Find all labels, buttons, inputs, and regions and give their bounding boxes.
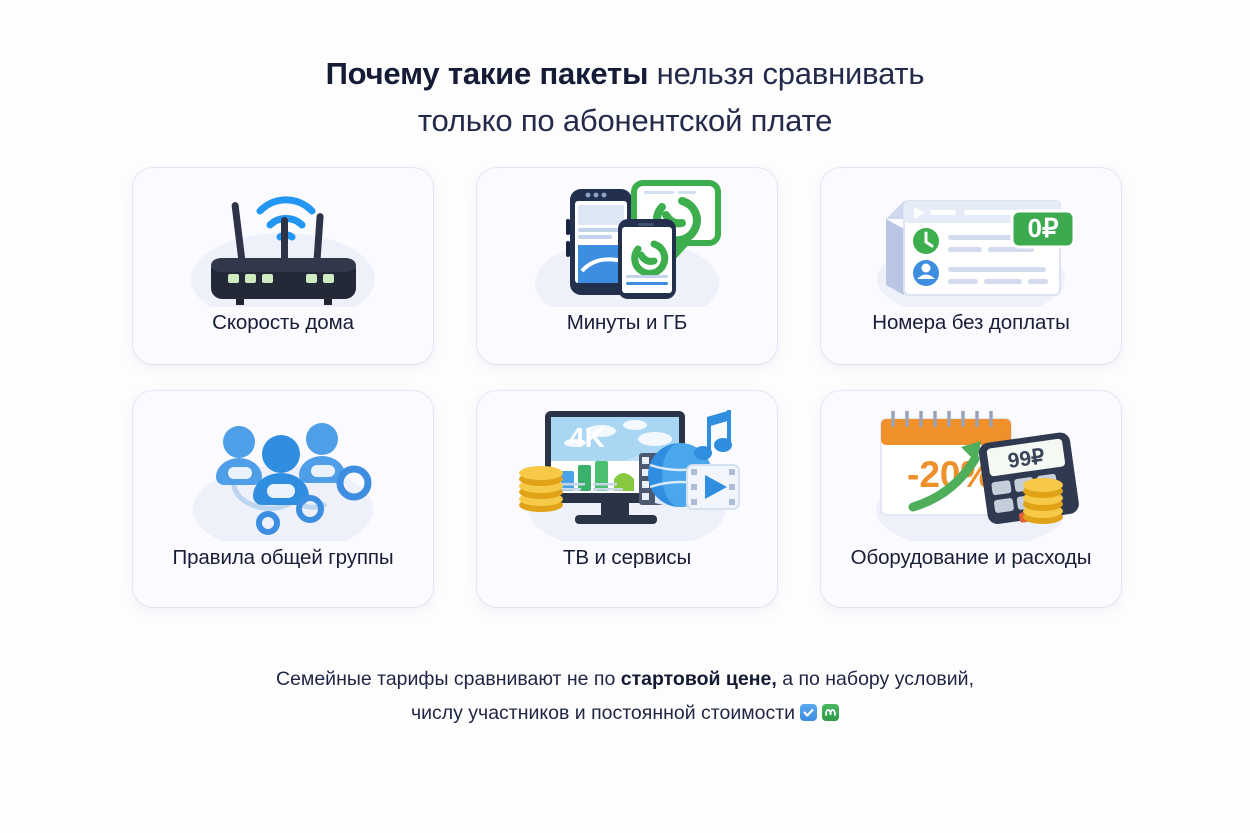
- card-label: Минуты и ГБ: [553, 310, 702, 336]
- card-minutes-gb[interactable]: Минуты и ГБ: [477, 168, 777, 364]
- footer-note: Семейные тарифы сравнивают не по стартов…: [0, 662, 1250, 730]
- tv-screen-4k-text: 4K: [569, 422, 605, 453]
- card-group-rules[interactable]: Правила общей группы: [133, 391, 433, 607]
- card-label: Оборудование и расходы: [837, 545, 1106, 571]
- card-speed-home[interactable]: Скорость дома: [133, 168, 433, 364]
- card-label: Правила общей группы: [158, 545, 407, 571]
- footer-text-highlight: стартовой цене,: [621, 668, 777, 690]
- card-label: Скорость дома: [198, 310, 368, 336]
- card-tv-services[interactable]: 4K: [477, 391, 777, 607]
- footer-text-c: а по набору условий,: [777, 668, 974, 690]
- footer-text-a: Семейные тарифы сравнивают не по: [276, 668, 621, 690]
- zero-price-badge-text: 0₽: [1027, 213, 1058, 243]
- footer-line-2: числу участников и постоянной стоимости: [0, 696, 1250, 730]
- page-title-line-1: Почему такие пакеты нельзя сравнивать: [0, 54, 1250, 94]
- wifi-router-icon: [133, 172, 433, 310]
- calendar-calculator-icon: -20% 99₽: [821, 395, 1121, 545]
- footer-line-1: Семейные тарифы сравнивают не по стартов…: [0, 662, 1250, 696]
- card-label: Номера без доплаты: [858, 310, 1083, 336]
- document-zero-price-icon: 0₽: [821, 172, 1121, 310]
- infographic-page: Почему такие пакеты нельзя сравнивать то…: [0, 0, 1250, 833]
- check-badge-blue-icon: [800, 704, 817, 721]
- card-numbers-no-fee[interactable]: 0₽ Номера без доплаты: [821, 168, 1121, 364]
- page-title: Почему такие пакеты нельзя сравнивать то…: [0, 0, 1250, 142]
- card-label: ТВ и сервисы: [549, 545, 705, 571]
- smartphones-call-icon: [477, 172, 777, 310]
- people-network-icon: [133, 395, 433, 545]
- card-equipment-costs[interactable]: -20% 99₽: [821, 391, 1121, 607]
- page-title-normal: нельзя сравнивать: [648, 56, 924, 91]
- page-title-line-2: только по абонентской плате: [0, 101, 1250, 141]
- page-title-strong: Почему такие пакеты: [326, 56, 649, 91]
- loop-badge-green-icon: [822, 704, 839, 721]
- footer-text-d: числу участников и постоянной стоимости: [411, 702, 795, 724]
- feature-card-grid: Скорость дома: [133, 168, 1121, 607]
- tv-media-icon: 4K: [477, 395, 777, 545]
